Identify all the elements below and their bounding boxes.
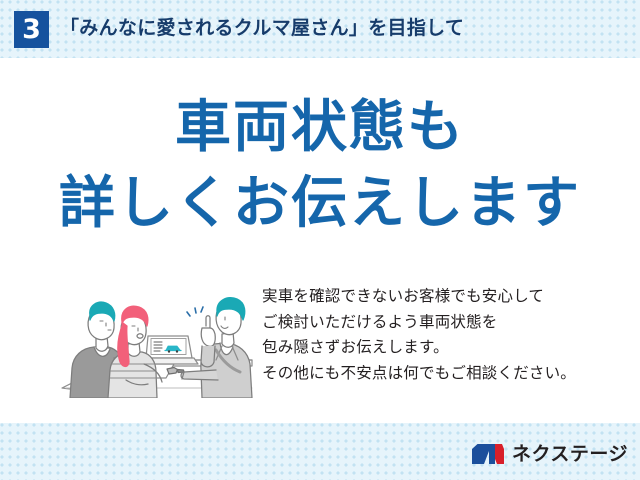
consultation-scene-svg <box>56 276 256 398</box>
body-line-3: 包み隠さずお伝えします。 <box>262 335 612 361</box>
promo-slide: 3 「みんなに愛されるクルマ屋さん」を目指して 車両状態も 詳しくお伝えします <box>0 0 640 480</box>
body-line-4: その他にも不安点は何でもご相談ください。 <box>262 361 612 387</box>
headline-line-2: 詳しくお伝えします <box>0 168 640 240</box>
body-copy: 実車を確認できないお客様でも安心して ご検討いただけるよう車両状態を 包み隠さず… <box>262 284 612 386</box>
customer-consultation-illustration <box>56 276 256 398</box>
brand-name: ネクステージ <box>512 442 628 466</box>
header-band: 3 「みんなに愛されるクルマ屋さん」を目指して <box>0 0 640 58</box>
step-number-badge: 3 <box>14 11 49 48</box>
nextage-n-logo-icon <box>471 442 505 466</box>
headline-line-1: 車両状態も <box>0 92 640 164</box>
header-title: 「みんなに愛されるクルマ屋さん」を目指して <box>60 15 464 43</box>
headline: 車両状態も 詳しくお伝えします <box>0 92 640 240</box>
brand-lockup: ネクステージ <box>471 441 628 467</box>
body-line-2: ご検討いただけるよう車両状態を <box>262 310 612 336</box>
body-line-1: 実車を確認できないお客様でも安心して <box>262 284 612 310</box>
